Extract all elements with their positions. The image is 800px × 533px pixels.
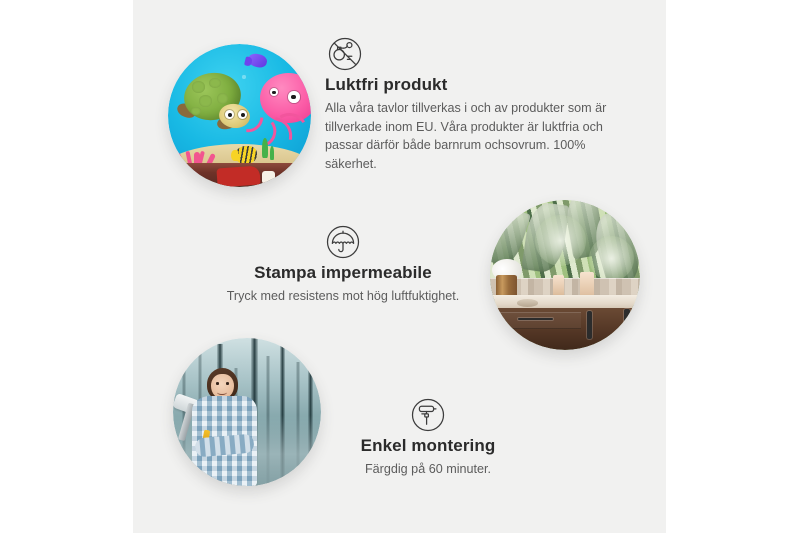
feature-easy-mounting: Enkel montering Färgdig på 60 minuter. [303,395,553,479]
umbrella-icon [323,222,363,262]
feature-waterproof: Stampa impermeabile Tryck med resistens … [203,222,483,306]
photo-decorator-forest [173,338,321,486]
product-features-infographic: Luktfri produkt Alla våra tavlor tillver… [133,0,666,533]
feature-body: Färgdig på 60 minuter. [303,460,553,479]
paint-roller-icon [408,395,448,435]
photo-bathroom-wallpaper [490,200,640,350]
feature-title: Enkel montering [303,435,553,457]
feature-title: Luktfri produkt [325,74,623,96]
photo-ocean-mural [168,44,311,187]
no-odour-spray-bottle-icon [325,34,365,74]
feature-odourless: Luktfri produkt Alla våra tavlor tillver… [325,34,623,173]
feature-body: Tryck med resistens mot hög luftfuktighe… [203,287,483,306]
feature-body: Alla våra tavlor tillverkas i och av pro… [325,99,623,173]
feature-title: Stampa impermeabile [203,262,483,284]
